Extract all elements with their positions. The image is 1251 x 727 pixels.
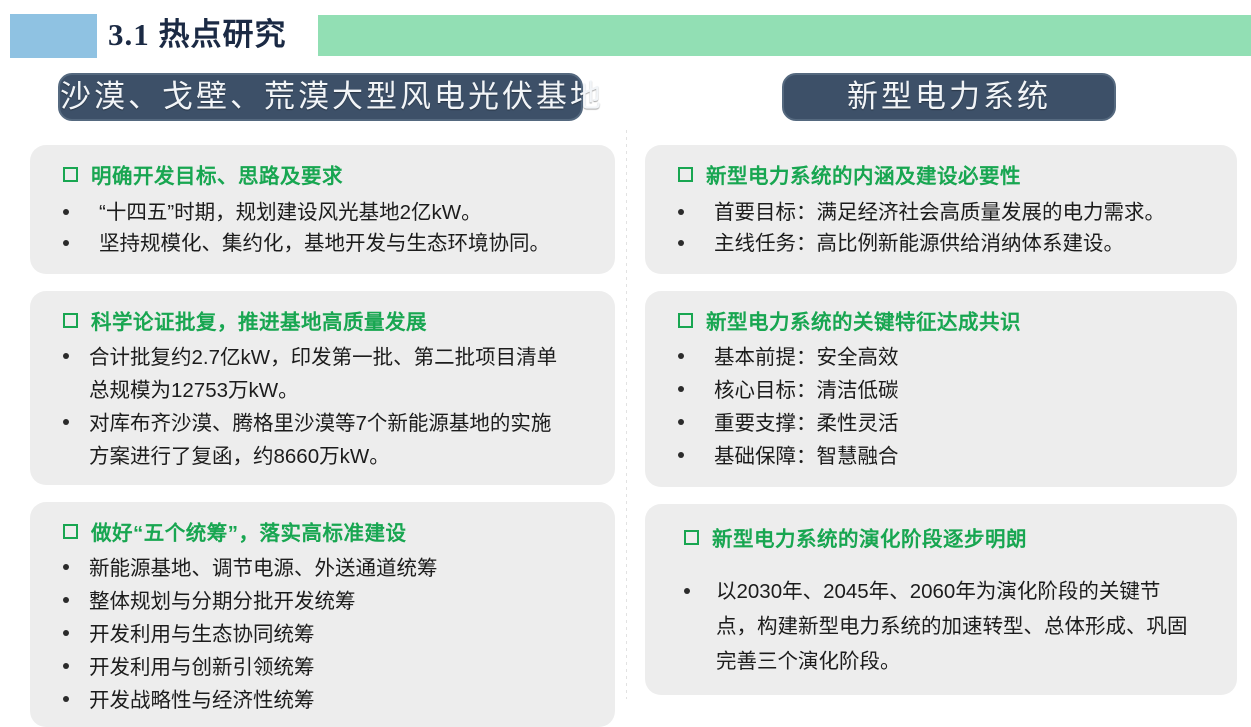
card-heading-text: 做好“五个统筹”，落实高标准建设 [91, 516, 407, 546]
list-item-text: 核心目标：清洁低碳 [704, 374, 1221, 407]
square-bullet-icon [63, 524, 78, 539]
card-heading-text: 新型电力系统的演化阶段逐步明朗 [712, 522, 1027, 552]
dot-bullet-icon [63, 597, 69, 603]
right-column-title-pill: 新型电力系统 [782, 73, 1116, 121]
dot-bullet-icon [63, 696, 69, 702]
list-item: 主线任务：高比例新能源供给消纳体系建设。 [678, 228, 1227, 259]
card-heading-text: 新型电力系统的内涵及建设必要性 [706, 159, 1021, 189]
list-item-text: “十四五”时期，规划建设风光基地2亿kW。 [89, 197, 599, 228]
dot-bullet-icon [63, 630, 69, 636]
dot-bullet-icon [678, 240, 684, 246]
section-title: 3.1 热点研究 [108, 11, 308, 59]
list-item-text: 主线任务：高比例新能源供给消纳体系建设。 [704, 228, 1227, 259]
card-heading: 做好“五个统筹”，落实高标准建设 [63, 516, 599, 546]
list-item: 基础保障：智慧融合 [678, 440, 1221, 473]
square-bullet-icon [63, 313, 78, 328]
list-item-text: 合计批复约2.7亿kW，印发第一批、第二批项目清单总规模为12753万kW。 [89, 341, 599, 407]
bullet-list: “十四五”时期，规划建设风光基地2亿kW。 坚持规模化、集约化，基地开发与生态环… [63, 197, 599, 259]
content-card: 新型电力系统的内涵及建设必要性 首要目标：满足经济社会高质量发展的电力需求。 主… [645, 145, 1237, 274]
square-bullet-icon [678, 313, 693, 328]
list-item: 核心目标：清洁低碳 [678, 374, 1221, 407]
list-item-text: 重要支撑：柔性灵活 [704, 407, 1221, 440]
card-heading: 新型电力系统的演化阶段逐步明朗 [684, 522, 1221, 552]
square-bullet-icon [63, 167, 78, 182]
list-item: 整体规划与分期分批开发统筹 [63, 585, 599, 618]
list-item-text: 开发战略性与经济性统筹 [89, 684, 599, 717]
card-heading: 新型电力系统的内涵及建设必要性 [678, 159, 1227, 189]
content-card: 做好“五个统筹”，落实高标准建设 新能源基地、调节电源、外送通道统筹 整体规划与… [30, 502, 615, 727]
bullet-list: 以2030年、2045年、2060年为演化阶段的关键节点，构建新型电力系统的加速… [684, 574, 1221, 679]
slide-header: 3.1 热点研究 [0, 0, 1251, 70]
bullet-list: 合计批复约2.7亿kW，印发第一批、第二批项目清单总规模为12753万kW。 对… [63, 341, 599, 473]
list-item-text: 新能源基地、调节电源、外送通道统筹 [89, 552, 599, 585]
list-item: 开发利用与创新引领统筹 [63, 651, 599, 684]
list-item: “十四五”时期，规划建设风光基地2亿kW。 [63, 197, 599, 228]
list-item: 开发战略性与经济性统筹 [63, 684, 599, 717]
list-item: 坚持规模化、集约化，基地开发与生态环境协同。 [63, 228, 599, 259]
list-item-text: 整体规划与分期分批开发统筹 [89, 585, 599, 618]
list-item: 开发利用与生态协同统筹 [63, 618, 599, 651]
dot-bullet-icon [678, 419, 684, 425]
dot-bullet-icon [63, 353, 69, 359]
dot-bullet-icon [63, 240, 69, 246]
dot-bullet-icon [63, 663, 69, 669]
card-heading-text: 新型电力系统的关键特征达成共识 [706, 305, 1021, 335]
dot-bullet-icon [684, 588, 690, 594]
square-bullet-icon [678, 167, 693, 182]
dot-bullet-icon [678, 452, 684, 458]
list-item: 基本前提：安全高效 [678, 341, 1221, 374]
left-column-title-pill: 沙漠、戈壁、荒漠大型风电光伏基地 [58, 73, 583, 121]
list-item: 重要支撑：柔性灵活 [678, 407, 1221, 440]
dot-bullet-icon [63, 564, 69, 570]
list-item: 新能源基地、调节电源、外送通道统筹 [63, 552, 599, 585]
card-heading: 明确开发目标、思路及要求 [63, 159, 599, 189]
dot-bullet-icon [63, 209, 69, 215]
content-card: 新型电力系统的演化阶段逐步明朗 以2030年、2045年、2060年为演化阶段的… [645, 504, 1237, 695]
list-item: 对库布齐沙漠、腾格里沙漠等7个新能源基地的实施方案进行了复函，约8660万kW。 [63, 407, 599, 473]
list-item-text: 开发利用与创新引领统筹 [89, 651, 599, 684]
card-heading-text: 科学论证批复，推进基地高质量发展 [91, 305, 427, 335]
card-heading: 科学论证批复，推进基地高质量发展 [63, 305, 599, 335]
right-column: 新型电力系统的内涵及建设必要性 首要目标：满足经济社会高质量发展的电力需求。 主… [645, 145, 1237, 695]
content-card: 明确开发目标、思路及要求 “十四五”时期，规划建设风光基地2亿kW。 坚持规模化… [30, 145, 615, 274]
list-item: 合计批复约2.7亿kW，印发第一批、第二批项目清单总规模为12753万kW。 [63, 341, 599, 407]
header-green-bar [318, 15, 1251, 56]
dot-bullet-icon [678, 209, 684, 215]
list-item-text: 以2030年、2045年、2060年为演化阶段的关键节点，构建新型电力系统的加速… [716, 574, 1221, 679]
dot-bullet-icon [63, 419, 69, 425]
header-blue-block [10, 14, 97, 58]
card-heading-text: 明确开发目标、思路及要求 [91, 159, 343, 189]
list-item-text: 开发利用与生态协同统筹 [89, 618, 599, 651]
list-item: 以2030年、2045年、2060年为演化阶段的关键节点，构建新型电力系统的加速… [684, 574, 1221, 679]
dot-bullet-icon [678, 386, 684, 392]
list-item-text: 坚持规模化、集约化，基地开发与生态环境协同。 [89, 228, 599, 259]
card-heading: 新型电力系统的关键特征达成共识 [678, 305, 1221, 335]
dot-bullet-icon [678, 353, 684, 359]
square-bullet-icon [684, 530, 699, 545]
list-item-text: 基础保障：智慧融合 [704, 440, 1221, 473]
list-item-text: 基本前提：安全高效 [704, 341, 1221, 374]
bullet-list: 新能源基地、调节电源、外送通道统筹 整体规划与分期分批开发统筹 开发利用与生态协… [63, 552, 599, 717]
bullet-list: 首要目标：满足经济社会高质量发展的电力需求。 主线任务：高比例新能源供给消纳体系… [678, 197, 1227, 259]
list-item-text: 首要目标：满足经济社会高质量发展的电力需求。 [704, 197, 1227, 228]
left-column: 明确开发目标、思路及要求 “十四五”时期，规划建设风光基地2亿kW。 坚持规模化… [30, 145, 615, 727]
list-item-text: 对库布齐沙漠、腾格里沙漠等7个新能源基地的实施方案进行了复函，约8660万kW。 [89, 407, 599, 473]
bullet-list: 基本前提：安全高效 核心目标：清洁低碳 重要支撑：柔性灵活 基础保障：智慧融合 [678, 341, 1221, 473]
content-card: 科学论证批复，推进基地高质量发展 合计批复约2.7亿kW，印发第一批、第二批项目… [30, 291, 615, 485]
content-card: 新型电力系统的关键特征达成共识 基本前提：安全高效 核心目标：清洁低碳 重要支撑… [645, 291, 1237, 487]
list-item: 首要目标：满足经济社会高质量发展的电力需求。 [678, 197, 1227, 228]
column-divider [626, 130, 627, 699]
